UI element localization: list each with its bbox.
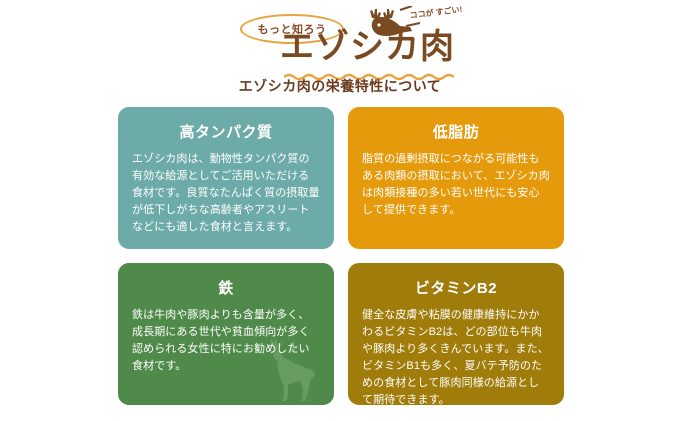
card-body: エゾシカ肉は、動物性タンパク質の有効な給源としてご活用いただける食材です。良質な…	[132, 151, 320, 236]
card-body: 健全な皮膚や粘膜の健康維持にかかわるビタミンB2は、どの部位も牛肉や豚肉より多く…	[362, 307, 550, 405]
logo-block: もっと知ろう エゾシカ肉	[232, 6, 472, 72]
card-body: 鉄は牛肉や豚肉よりも含量が多く、成長期にある世代や貧血傾向が多く認められる女性に…	[132, 307, 320, 375]
wavy-underline-decoration	[284, 68, 454, 76]
page-subtitle: エゾシカ肉の栄養特性について	[0, 76, 680, 96]
card-body: 脂質の過剰摂取につながる可能性もある肉類の摂取において、エゾシカ肉は肉類接種の多…	[362, 151, 550, 219]
card-title: 低脂肪	[362, 121, 550, 142]
card-title: 鉄	[132, 277, 320, 298]
nutrition-card-high-protein: 高タンパク質 エゾシカ肉は、動物性タンパク質の有効な給源としてご活用いただける食…	[118, 107, 334, 249]
nutrition-card-iron: 鉄 鉄は牛肉や豚肉よりも含量が多く、成長期にある世代や貧血傾向が多く認められる女…	[118, 263, 334, 405]
nutrition-card-vitamin-b2: ビタミンB2 健全な皮膚や粘膜の健康維持にかかわるビタミンB2は、どの部位も牛肉…	[348, 263, 564, 405]
page-header: もっと知ろう エゾシカ肉	[0, 0, 680, 100]
nutrition-card-low-fat: 低脂肪 脂質の過剰摂取につながる可能性もある肉類の摂取において、エゾシカ肉は肉類…	[348, 107, 564, 249]
deer-badge: ココが すごい!	[354, 6, 472, 46]
card-title: 高タンパク質	[132, 121, 320, 142]
nutrition-card-grid: 高タンパク質 エゾシカ肉は、動物性タンパク質の有効な給源としてご活用いただける食…	[118, 107, 564, 405]
card-title: ビタミンB2	[362, 277, 550, 298]
